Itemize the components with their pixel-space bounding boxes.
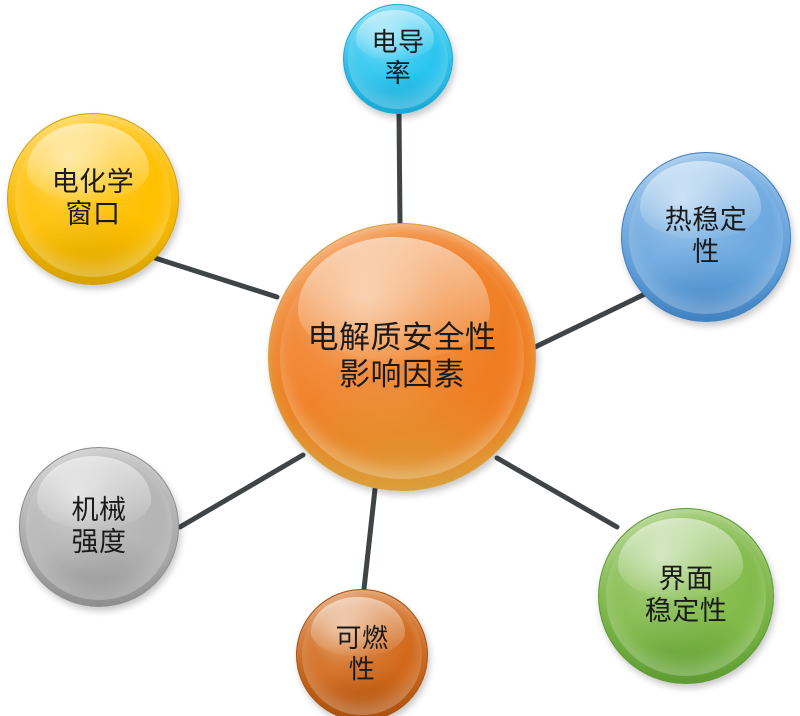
connector-center-to-flammability	[364, 489, 375, 589]
node-label-conductivity: 电导 率	[371, 28, 424, 89]
connector-center-to-conductivity	[399, 114, 400, 224]
center-node-label: 电解质安全性 影响因素	[308, 320, 497, 393]
node-flammability[interactable]: 可燃 性	[296, 589, 428, 716]
node-label-window: 电化学 窗口	[52, 167, 135, 231]
node-thermal-stability[interactable]: 热稳定 性	[621, 152, 791, 322]
center-node-electrolyte-safety-factors[interactable]: 电解质安全性 影响因素	[268, 223, 536, 491]
node-label-thermal: 热稳定 性	[665, 205, 748, 269]
node-mechanical-strength[interactable]: 机械 强度	[19, 447, 179, 607]
bubble-diagram: 电解质安全性 影响因素 电导 率 热稳定 性 界面 稳定性 可燃 性 机械 强度…	[0, 0, 800, 716]
node-interfacial-stability[interactable]: 界面 稳定性	[598, 508, 774, 684]
connector-center-to-mechanical	[180, 455, 303, 527]
connector-center-to-interface	[497, 458, 617, 527]
connector-center-to-window	[155, 258, 277, 297]
node-electrochemical-window[interactable]: 电化学 窗口	[7, 113, 179, 285]
node-ionic-conductivity[interactable]: 电导 率	[343, 4, 453, 114]
node-label-flammability: 可燃 性	[335, 624, 388, 685]
node-label-mechanical: 机械 强度	[72, 495, 127, 559]
node-label-interface: 界面 稳定性	[645, 564, 728, 628]
connector-center-to-thermal	[533, 294, 645, 348]
